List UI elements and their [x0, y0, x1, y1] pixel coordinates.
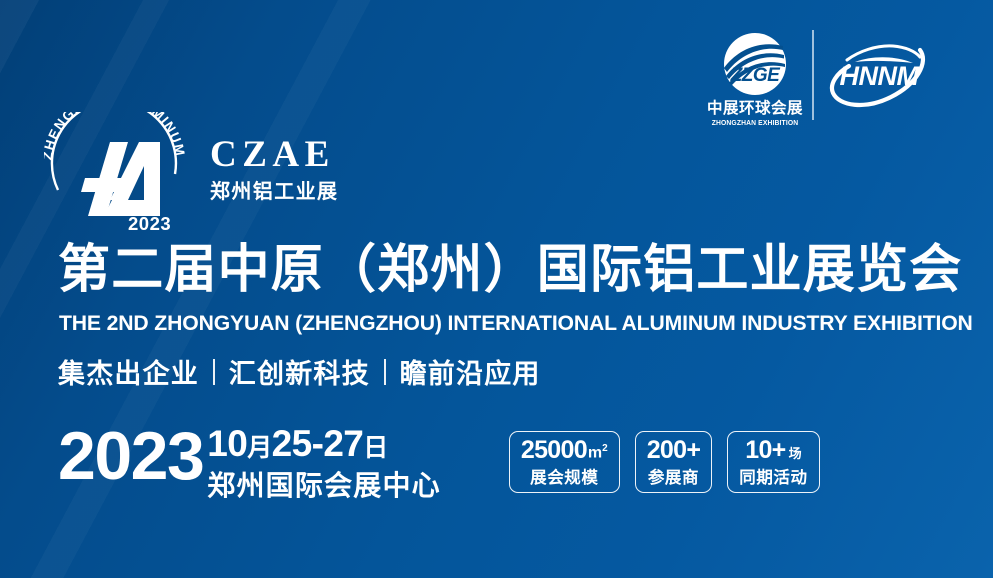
zzge-globe-swoosh-icon: ZZGE	[719, 28, 791, 100]
event-logo-wordmark: CZAE 郑州铝工业展	[210, 136, 338, 202]
headline-block: 第二届中原（郑州）国际铝工业展览会 THE 2ND ZHONGYUAN (ZHE…	[58, 243, 938, 336]
partner-zzge: ZZGE 中展环球会展 ZHONGZHAN EXHIBITION	[700, 28, 810, 127]
event-name-cn: 郑州铝工业展	[210, 182, 338, 202]
svg-text:2023: 2023	[128, 213, 171, 234]
page-subtitle: THE 2ND ZHONGYUAN (ZHENGZHOU) INTERNATIO…	[59, 311, 925, 336]
zzge-name-en: ZHONGZHAN EXHIBITION	[703, 118, 806, 127]
stats-group: 25000 m2 展会规模 200+ 参展商 10+ 场 同期活动	[509, 431, 820, 493]
stat-unit-text: m	[588, 445, 602, 462]
event-logo: ZHENGZHOU ALUMINUM 2023 CZAE 郑州铝工业展	[44, 112, 344, 236]
stat-box-concurrent-events: 10+ 场 同期活动	[727, 431, 819, 493]
stat-value: 25000 m2	[521, 438, 608, 463]
tagline: 集杰出企业 汇创新科技 瞻前沿应用	[58, 352, 541, 391]
partner-divider	[812, 30, 814, 120]
event-date: 10月25-27日	[207, 425, 441, 462]
svg-text:ZZGE: ZZGE	[730, 65, 781, 86]
stat-number: 200+	[647, 438, 701, 463]
event-info-row: 2023 10月25-27日 郑州国际会展中心 25000 m2 展会规模 20…	[58, 418, 820, 504]
tagline-separator	[384, 359, 386, 385]
hnnm-orbit-icon: HNNM	[825, 32, 937, 119]
event-date-days: 25-27	[272, 423, 364, 464]
stat-box-exhibitors: 200+ 参展商	[635, 431, 713, 493]
tagline-part-2: 汇创新科技	[229, 352, 370, 391]
stat-label: 展会规模	[530, 470, 598, 487]
event-date-day-unit: 日	[363, 434, 387, 462]
stat-value: 10+ 场	[745, 438, 801, 463]
exhibition-banner: ZZGE 中展环球会展 ZHONGZHAN EXHIBITION HNNM	[0, 0, 993, 578]
event-acronym: CZAE	[210, 136, 338, 173]
stat-unit: m2	[588, 444, 608, 461]
stat-suffix: 场	[789, 447, 802, 460]
tagline-part-3: 瞻前沿应用	[400, 352, 541, 391]
page-title: 第二届中原（郑州）国际铝工业展览会	[58, 243, 938, 297]
czae-za-monogram-seal-icon: ZHENGZHOU ALUMINUM 2023	[44, 112, 192, 236]
tagline-separator	[213, 359, 215, 385]
event-date-month: 10	[207, 423, 247, 464]
stat-box-exhibition-area: 25000 m2 展会规模	[509, 431, 620, 493]
zzge-name-cn: 中展环球会展	[700, 101, 810, 117]
stat-label: 参展商	[648, 470, 699, 487]
svg-text:HNNM: HNNM	[840, 61, 920, 91]
stat-unit-exponent: 2	[602, 443, 608, 454]
stat-value: 200+	[647, 438, 701, 463]
event-venue: 郑州国际会展中心	[207, 472, 441, 500]
event-date-month-unit: 月	[247, 434, 271, 462]
partner-hnnm: HNNM	[825, 32, 937, 114]
event-date-venue: 10月25-27日 郑州国际会展中心	[207, 425, 441, 500]
stat-number: 25000	[521, 438, 587, 463]
stat-label: 同期活动	[739, 470, 807, 487]
stat-number: 10+	[745, 438, 785, 463]
partner-logos: ZZGE 中展环球会展 ZHONGZHAN EXHIBITION HNNM	[690, 22, 940, 124]
tagline-part-1: 集杰出企业	[58, 352, 199, 391]
event-year: 2023	[58, 424, 203, 489]
